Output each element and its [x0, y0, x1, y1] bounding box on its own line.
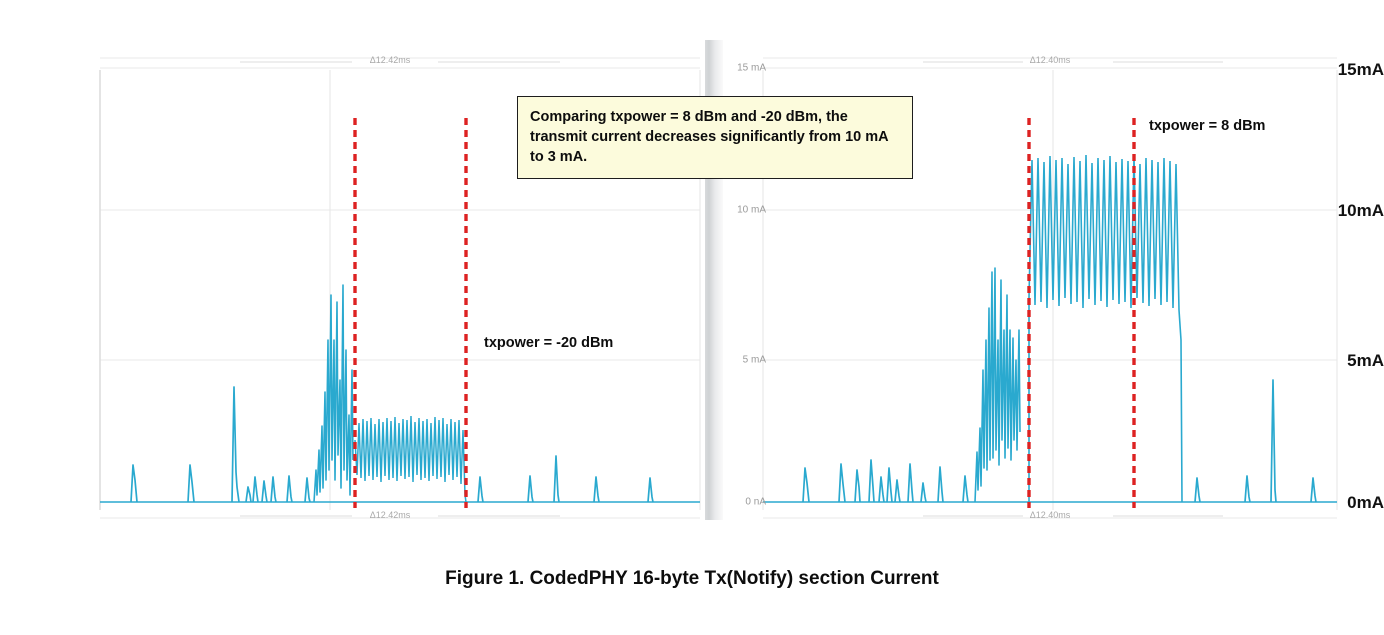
- txpower-label-right: txpower = 8 dBm: [1149, 118, 1265, 134]
- left-tx-burst-trace: [355, 416, 466, 502]
- right-ytick-10: 10 mA: [718, 205, 766, 216]
- left-rampup-trace: [314, 285, 353, 502]
- figure-root: 15mA 10mA 5mA 0mA Δ12.42ms Δ12.42ms: [0, 0, 1384, 635]
- right-ytick-5: 5 mA: [718, 355, 766, 366]
- left-delta-bottom: Δ12.42ms: [340, 510, 440, 520]
- right-ytick-15: 15 mA: [718, 63, 766, 74]
- right-idle-spikes: [803, 460, 968, 502]
- right-delta-bottom: Δ12.40ms: [1000, 510, 1100, 520]
- left-idle-spikes: [131, 387, 310, 502]
- figure-caption: Figure 1. CodedPHY 16-byte Tx(Notify) se…: [0, 568, 1384, 590]
- right-tx-burst-trace: [1029, 155, 1182, 502]
- right-post-spikes: [1195, 380, 1316, 502]
- right-ytick-0: 0 nA: [718, 497, 766, 508]
- left-delta-top: Δ12.42ms: [340, 55, 440, 65]
- left-post-spikes: [478, 456, 653, 502]
- txpower-label-left: txpower = -20 dBm: [484, 335, 613, 351]
- annotation-callout: Comparing txpower = 8 dBm and -20 dBm, t…: [517, 96, 913, 179]
- right-delta-top: Δ12.40ms: [1000, 55, 1100, 65]
- right-rampup-trace: [975, 268, 1020, 502]
